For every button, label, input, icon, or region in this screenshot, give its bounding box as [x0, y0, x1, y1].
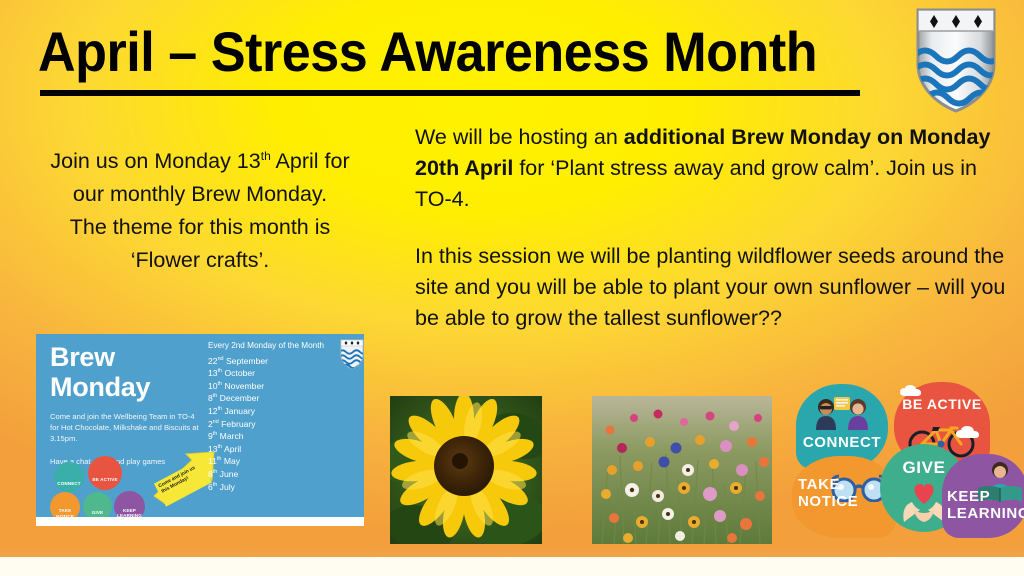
date-day: 22	[208, 355, 218, 365]
poster-title: Brew Monday	[50, 342, 205, 402]
poster-shield-crest-icon	[339, 338, 364, 370]
poster-date-row: 8th June	[208, 466, 358, 479]
five-ways-to-wellbeing-graphic: CONNECT BE ACTIVE	[792, 382, 1024, 540]
date-day: 13	[208, 368, 218, 378]
wellbeing-label-take-notice: TAKE NOTICE	[792, 476, 858, 510]
left-line1-b: April for	[271, 149, 350, 173]
date-month: June	[220, 469, 239, 479]
poster-date-row-highlighted-wrap: 13th April	[208, 441, 358, 454]
date-suffix: th	[218, 406, 223, 412]
slide-background-footer-band	[0, 545, 1024, 557]
date-suffix: th	[213, 482, 218, 488]
date-suffix: th	[218, 381, 223, 387]
poster-dates-list: Every 2nd Monday of the Month 22nd Septe…	[208, 340, 358, 491]
title-underline	[40, 90, 860, 96]
poster-left-column: Brew Monday Come and join the Wellbeing …	[50, 342, 205, 467]
poster-title-line-1: Brew	[50, 342, 205, 372]
right-paragraph-1: We will be hosting an additional Brew Mo…	[415, 122, 1015, 215]
date-month: December	[220, 393, 260, 403]
shield-crest-icon	[912, 6, 1000, 116]
right-column: We will be hosting an additional Brew Mo…	[415, 122, 1015, 334]
left-paragraph-line-2: our monthly Brew Monday.	[14, 178, 386, 211]
poster-dates-header: Every 2nd Monday of the Month	[208, 340, 358, 353]
poster-way-connect: CONNECT	[54, 462, 84, 492]
poster-inner: Brew Monday Come and join the Wellbeing …	[36, 334, 364, 517]
page-title-wrapper: April – Stress Awareness Month	[38, 22, 888, 82]
right-paragraph-2: In this session we will be planting wild…	[415, 241, 1015, 334]
poster-title-line-2: Monday	[50, 372, 205, 402]
poster-way-take-notice-label: TAKE NOTICE	[50, 495, 80, 519]
poster-date-row: 11th May	[208, 453, 358, 466]
date-day: 13	[208, 444, 218, 454]
poster-date-row: 8th December	[208, 390, 358, 403]
date-month: February	[221, 418, 255, 428]
poster-date-row: 6th July	[208, 479, 358, 492]
date-month: January	[224, 406, 255, 416]
left-paragraph-line-1: Join us on Monday 13th April for	[14, 140, 386, 178]
poster-way-give-label: GIVE	[92, 497, 103, 516]
page-title: April – Stress Awareness Month	[38, 22, 829, 82]
date-suffix: th	[213, 431, 218, 437]
date-suffix: nd	[218, 356, 224, 362]
sunflower-photo	[390, 396, 542, 544]
slide-canvas: April – Stress Awareness Month	[0, 0, 1024, 576]
two-people-icon	[812, 394, 872, 435]
cloud-icon	[900, 384, 926, 402]
date-suffix: th	[218, 368, 223, 374]
poster-date-row: 13th October	[208, 365, 358, 378]
poster-body-1: Come and join the Wellbeing Team in TO-4…	[50, 411, 200, 445]
wellbeing-bubble-keep-learning: KEEP LEARNING	[942, 454, 1024, 538]
poster-date-row: 2nd February	[208, 416, 358, 429]
left-paragraph-line-3: The theme for this month is	[14, 211, 386, 244]
date-suffix: nd	[213, 419, 219, 425]
date-month: September	[226, 355, 268, 365]
wellbeing-label-take-notice-line1: TAKE	[798, 476, 858, 493]
date-suffix: th	[213, 393, 218, 399]
wellbeing-label-keep-learning: KEEP LEARNING	[942, 488, 1024, 522]
wellbeing-label-keep-learning-line2: LEARNING	[947, 505, 1024, 522]
date-month: October	[224, 368, 255, 378]
wellbeing-label-take-notice-line2: NOTICE	[798, 493, 858, 510]
cloud-icon	[956, 426, 984, 444]
date-suffix: th	[218, 444, 223, 450]
poster-way-connect-label: CONNECT	[57, 468, 80, 487]
date-month: November	[224, 381, 264, 391]
brew-monday-poster: Brew Monday Come and join the Wellbeing …	[36, 334, 364, 526]
left-paragraph-line-4: ‘Flower crafts’.	[14, 244, 386, 277]
date-month: April	[224, 444, 241, 454]
slide-bottom-cream-strip	[0, 557, 1024, 576]
wellbeing-label-keep-learning-line1: KEEP	[947, 488, 1024, 505]
left-line1-superscript: th	[261, 149, 271, 163]
left-line1-a: Join us on Monday 13	[50, 149, 260, 173]
date-month: May	[224, 456, 240, 466]
left-paragraph: Join us on Monday 13th April for our mon…	[14, 140, 386, 277]
wildflower-meadow-photo	[592, 396, 772, 544]
poster-date-row: 22nd September	[208, 353, 358, 366]
date-suffix: th	[213, 469, 218, 475]
date-day: 10	[208, 381, 218, 391]
date-day: 11	[208, 456, 217, 466]
heart-in-hands-icon	[900, 480, 948, 529]
poster-date-row: 9th March	[208, 428, 358, 441]
date-month: March	[220, 431, 244, 441]
poster-way-keep-learning-label: KEEP LEARNING	[114, 495, 145, 519]
date-day: 12	[208, 406, 218, 416]
poster-way-be-active-label: BE ACTIVE	[92, 464, 117, 483]
poster-date-row-highlighted: 13th April	[208, 444, 241, 454]
wellbeing-label-connect: CONNECT	[796, 434, 888, 451]
poster-bottom-strip	[36, 517, 364, 526]
poster-way-be-active: BE ACTIVE	[88, 456, 122, 490]
right-p1-part1: We will be hosting an	[415, 125, 624, 149]
poster-date-row: 12th January	[208, 403, 358, 416]
date-month: July	[220, 481, 235, 491]
date-suffix: th	[217, 456, 222, 462]
poster-date-row: 10th November	[208, 378, 358, 391]
